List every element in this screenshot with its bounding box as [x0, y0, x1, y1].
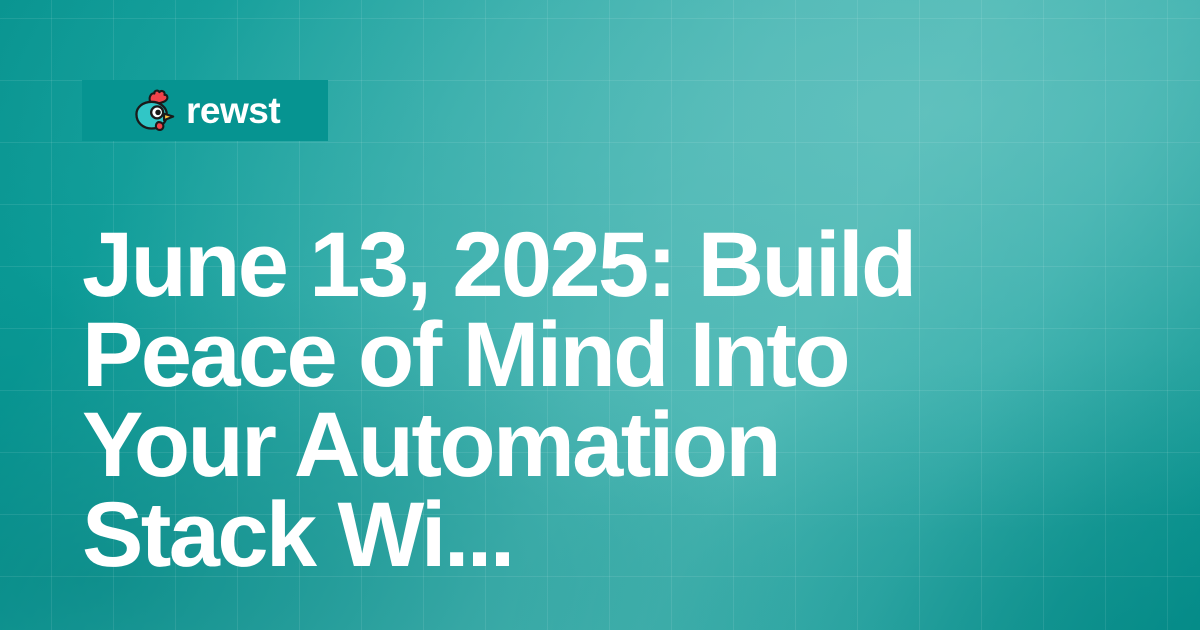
rewst-rooster-icon [130, 88, 176, 134]
page-title: June 13, 2025: Build Peace of Mind Into … [82, 220, 1002, 581]
brand-logo-lockup[interactable]: rewst [82, 80, 328, 141]
card-content: rewst June 13, 2025: Build Peace of Mind… [0, 0, 1200, 630]
social-share-card: rewst June 13, 2025: Build Peace of Mind… [0, 0, 1200, 630]
brand-wordmark: rewst [186, 92, 280, 129]
